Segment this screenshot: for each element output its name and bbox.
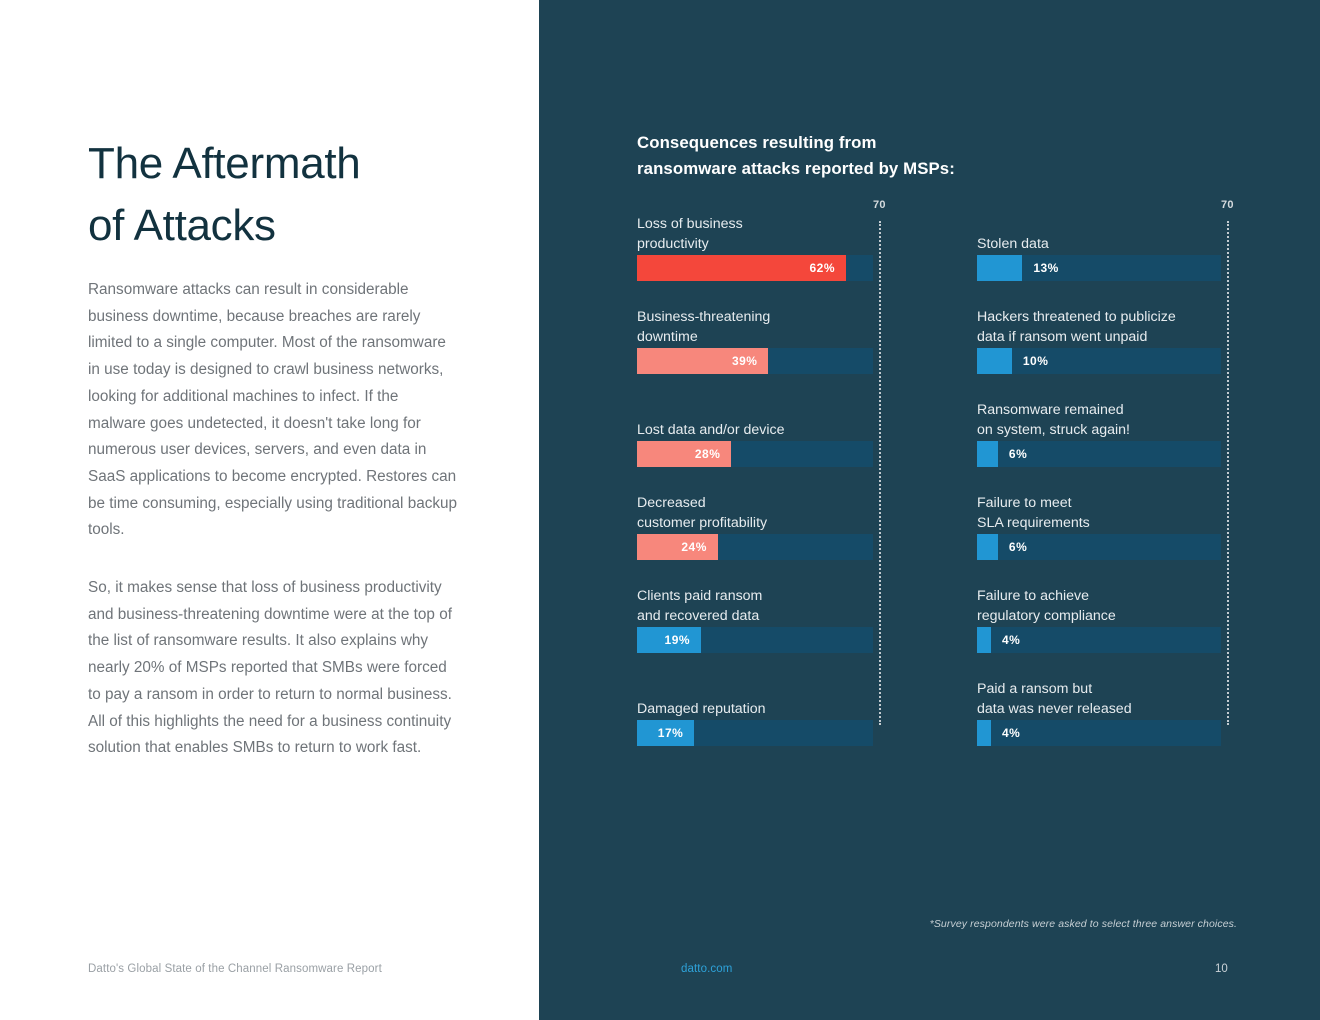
bar-track: 6% bbox=[977, 441, 1221, 467]
report-footer-label: Datto's Global State of the Channel Rans… bbox=[88, 963, 382, 975]
bar-category-label: Paid a ransom but data was never release… bbox=[977, 680, 1227, 719]
bar-group: Loss of business productivity62% bbox=[637, 255, 881, 281]
chart-panel: Consequences resulting from ransomware a… bbox=[539, 0, 1320, 1020]
bar-group: Decreased customer profitability24% bbox=[637, 534, 881, 560]
left-page: The Aftermath of Attacks Ransomware atta… bbox=[0, 0, 539, 1020]
bar-track: 4% bbox=[977, 627, 1221, 653]
bar-value-label: 24% bbox=[681, 540, 718, 554]
bar-category-label: Failure to achieve regulatory compliance bbox=[977, 587, 1227, 626]
bar-track: 24% bbox=[637, 534, 873, 560]
bar-track: 13% bbox=[977, 255, 1221, 281]
bar-fill: 6% bbox=[977, 441, 998, 467]
bar-track: 17% bbox=[637, 720, 873, 746]
bar-track: 62% bbox=[637, 255, 873, 281]
bar-group: Stolen data13% bbox=[977, 255, 1229, 281]
page-title: The Aftermath of Attacks bbox=[88, 133, 508, 257]
survey-note: *Survey respondents were asked to select… bbox=[917, 918, 1237, 930]
body-paragraph: Ransomware attacks can result in conside… bbox=[88, 277, 460, 544]
bar-value-label: 28% bbox=[695, 447, 732, 461]
bar-value-label: 6% bbox=[998, 540, 1027, 554]
bar-fill: 10% bbox=[977, 348, 1012, 374]
bar-category-label: Clients paid ransom and recovered data bbox=[637, 587, 887, 626]
bar-track: 10% bbox=[977, 348, 1221, 374]
bar-category-label: Decreased customer profitability bbox=[637, 494, 887, 533]
bar-category-label: Lost data and/or device bbox=[637, 421, 887, 441]
bar-group: Clients paid ransom and recovered data19… bbox=[637, 627, 881, 653]
bar-value-label: 39% bbox=[732, 354, 769, 368]
bar-group: Lost data and/or device28% bbox=[637, 441, 881, 467]
bar-fill: 62% bbox=[637, 255, 846, 281]
bar-fill: 17% bbox=[637, 720, 694, 746]
bar-value-label: 19% bbox=[665, 633, 702, 647]
bar-value-label: 62% bbox=[809, 261, 846, 275]
body-copy: Ransomware attacks can result in conside… bbox=[88, 277, 460, 793]
bar-category-label: Stolen data bbox=[977, 235, 1227, 255]
bar-category-label: Failure to meet SLA requirements bbox=[977, 494, 1227, 533]
bar-group: Failure to achieve regulatory compliance… bbox=[977, 627, 1229, 653]
bar-category-label: Hackers threatened to publicize data if … bbox=[977, 308, 1227, 347]
bar-value-label: 4% bbox=[991, 633, 1020, 647]
page-number: 10 bbox=[1215, 963, 1228, 975]
bar-track: 19% bbox=[637, 627, 873, 653]
body-paragraph: So, it makes sense that loss of business… bbox=[88, 575, 460, 762]
bar-fill: 28% bbox=[637, 441, 731, 467]
axis-max-label: 70 bbox=[873, 199, 886, 211]
bar-track: 28% bbox=[637, 441, 873, 467]
bar-value-label: 13% bbox=[1022, 261, 1059, 275]
bar-fill: 4% bbox=[977, 627, 991, 653]
bar-fill: 39% bbox=[637, 348, 768, 374]
bar-track: 39% bbox=[637, 348, 873, 374]
bar-value-label: 6% bbox=[998, 447, 1027, 461]
bar-fill: 24% bbox=[637, 534, 718, 560]
axis-max-label: 70 bbox=[1221, 199, 1234, 211]
bar-group: Business-threatening downtime39% bbox=[637, 348, 881, 374]
bar-fill: 6% bbox=[977, 534, 998, 560]
bar-category-label: Business-threatening downtime bbox=[637, 308, 887, 347]
bar-group: Damaged reputation17% bbox=[637, 720, 881, 746]
bar-group: Ransomware remained on system, struck ag… bbox=[977, 441, 1229, 467]
bar-fill: 19% bbox=[637, 627, 701, 653]
bar-value-label: 17% bbox=[658, 726, 695, 740]
bar-track: 4% bbox=[977, 720, 1221, 746]
bar-group: Failure to meet SLA requirements6% bbox=[977, 534, 1229, 560]
bar-group: Paid a ransom but data was never release… bbox=[977, 720, 1229, 746]
bar-value-label: 4% bbox=[991, 726, 1020, 740]
bar-fill: 4% bbox=[977, 720, 991, 746]
bar-track: 6% bbox=[977, 534, 1221, 560]
datto-website-link[interactable]: datto.com bbox=[681, 963, 732, 975]
bar-category-label: Ransomware remained on system, struck ag… bbox=[977, 401, 1227, 440]
chart-heading: Consequences resulting from ransomware a… bbox=[637, 130, 1157, 182]
bar-category-label: Damaged reputation bbox=[637, 700, 887, 720]
bar-value-label: 10% bbox=[1012, 354, 1049, 368]
bar-group: Hackers threatened to publicize data if … bbox=[977, 348, 1229, 374]
bar-fill: 13% bbox=[977, 255, 1022, 281]
bar-category-label: Loss of business productivity bbox=[637, 215, 887, 254]
